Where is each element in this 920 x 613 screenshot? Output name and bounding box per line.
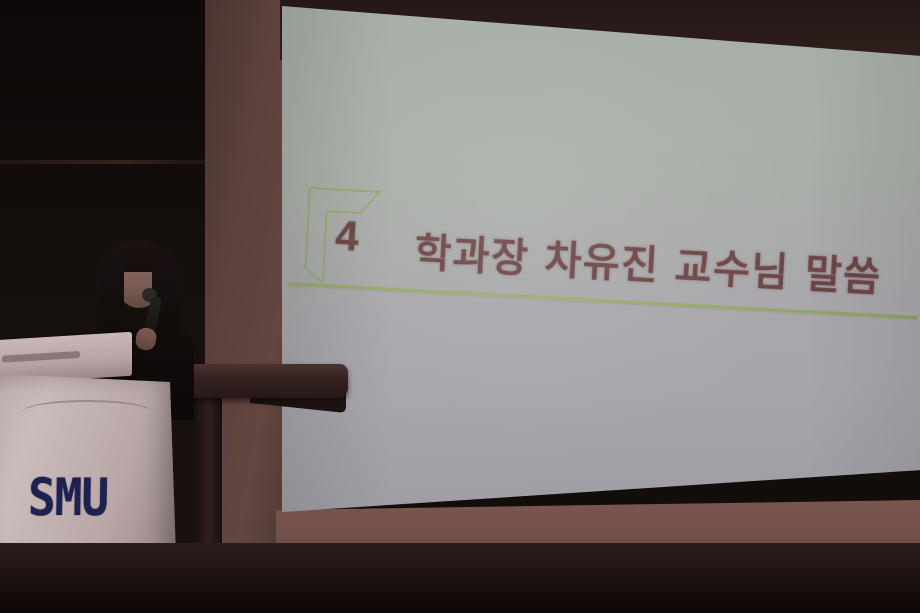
- projection-screen: 4 학과장 차유진 교수님 말씀: [276, 0, 920, 520]
- podium-smu-logo: SMU: [28, 467, 109, 527]
- projected-slide: 4 학과장 차유진 교수님 말씀: [276, 0, 920, 520]
- lectern-desk-top: [186, 364, 348, 398]
- floor-shadow-band: [0, 543, 920, 613]
- podium-monitor-slot: [2, 351, 80, 363]
- slide-title: 학과장 차유진 교수님 말씀: [413, 220, 883, 303]
- presentation-photo: 4 학과장 차유진 교수님 말씀 SMU: [0, 0, 920, 613]
- slide-number: 4: [334, 212, 359, 261]
- wall-panel-seam: [0, 160, 212, 164]
